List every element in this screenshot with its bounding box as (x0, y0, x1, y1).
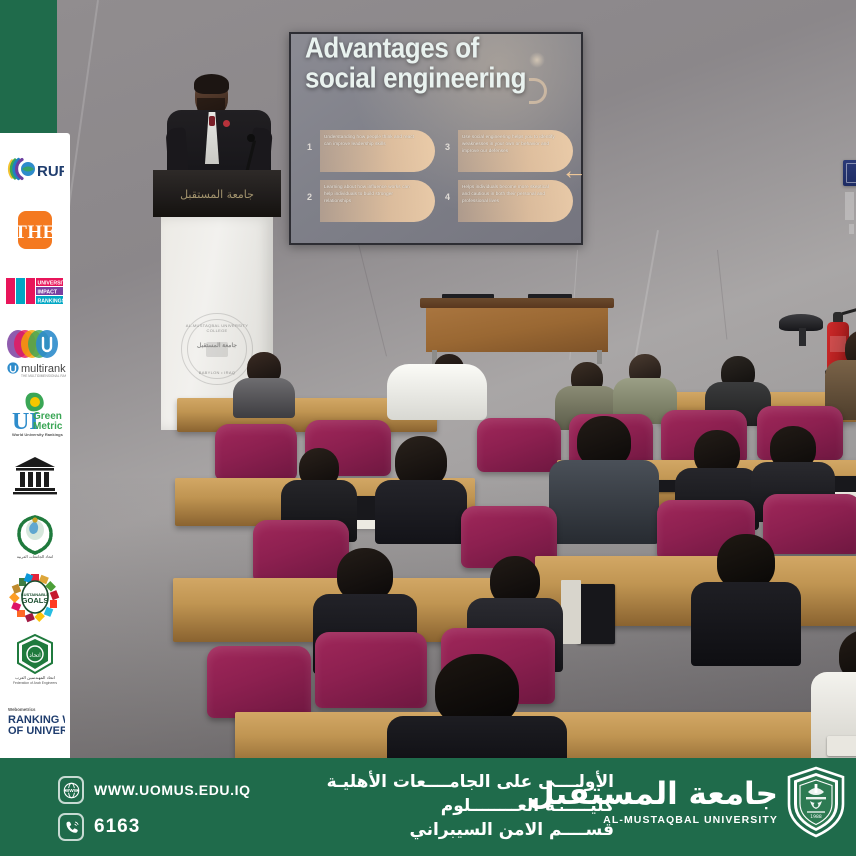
person-torso (233, 378, 295, 418)
audience-member (233, 352, 295, 414)
presenter-lapel-pin (223, 120, 230, 127)
sign-border (846, 163, 856, 183)
university-brand-lockup: جامعة المستقبل AL-MUSTAQBAL UNIVERSITY 1… (528, 766, 846, 838)
svg-text:اتحاد: اتحاد (29, 652, 41, 659)
svg-text:اتحاد الجامعات العربية: اتحاد الجامعات العربية (17, 554, 53, 559)
bullet-pill: Understanding how people think and react… (320, 130, 435, 172)
event-photo: Advantages of social engineering 1 Under… (57, 0, 856, 766)
audience-member (387, 654, 567, 766)
u-multirank-logo-icon: multirank THE MULTIDIMENSIONAL RANKING (4, 327, 66, 379)
presenter-hair (194, 74, 229, 94)
svg-text:RUR: RUR (37, 163, 64, 180)
ui-greenmetric-logo-icon: UI Green Metric World University Ranking… (6, 389, 64, 439)
phone-row[interactable]: 6163 (58, 813, 251, 841)
sidebar-logo-arab-universities: اتحاد الجامعات العربية (4, 507, 66, 566)
lecture-hall-scene: Advantages of social engineering 1 Under… (57, 0, 856, 766)
rur-logo-icon: RUR (6, 151, 64, 187)
desk-front-panel (426, 308, 608, 352)
audience-member (825, 330, 856, 416)
bullet-text: Use social engineering helps you to iden… (462, 133, 557, 154)
svg-text:OF UNIVERSITIES: OF UNIVERSITIES (8, 725, 65, 737)
sidebar-logo-ui-greenmetric: UI Green Metric World University Ranking… (4, 384, 66, 443)
svg-text:THE MULTIDIMENSIONAL RANKING: THE MULTIDIMENSIONAL RANKING (21, 374, 66, 378)
seal-center-text: جامعة المستقبل (182, 342, 252, 349)
audience-member (387, 348, 487, 418)
presenter-left-arm (165, 127, 188, 174)
auditorium-seat (207, 646, 311, 718)
brand-text: جامعة المستقبل AL-MUSTAQBAL UNIVERSITY (528, 779, 778, 826)
bullet-number: 1 (307, 130, 315, 152)
sidebar-logo-the-impact-rankings: UNIVERSITY IMPACT RANKINGS (4, 262, 66, 321)
contact-block: WWW WWW.UOMUS.EDU.IQ 6163 (58, 776, 251, 841)
webometrics-logo-icon: Webometrics RANKING WEB OF UNIVERSITIES (5, 703, 65, 737)
desk-top (420, 298, 614, 308)
svg-text:1988: 1988 (810, 814, 822, 820)
notebook-sheet (561, 580, 581, 644)
bullet-pill: Use social engineering helps you to iden… (458, 130, 573, 172)
svg-text:Metric: Metric (33, 421, 63, 432)
bullet-pill: Helps individuals become more skeptical … (458, 180, 573, 222)
sdg-goals-icon: SUSTAINABLE GOALS (9, 573, 61, 623)
phone-number[interactable]: 6163 (94, 816, 140, 838)
wall-sign-blue: تحذير (843, 160, 856, 186)
website-url[interactable]: WWW.UOMUS.EDU.IQ (94, 782, 251, 798)
slide-bullet: 2 Learning about how influence works can… (307, 180, 435, 224)
sidebar-logo-u-multirank: multirank THE MULTIDIMENSIONAL RANKING (4, 323, 66, 382)
slide-bullet: 1 Understanding how people think and rea… (307, 130, 435, 174)
projection-screen: Advantages of social engineering 1 Under… (289, 32, 583, 245)
svg-text:THE: THE (14, 222, 56, 243)
bullet-pill: Learning about how influence works can h… (320, 180, 435, 222)
extinguisher-hose (841, 308, 856, 316)
the-impact-rankings-logo-icon: UNIVERSITY IMPACT RANKINGS (5, 274, 65, 308)
audience-member (613, 354, 677, 420)
phone-device (827, 736, 856, 756)
seal-top-text: AL-MUSTAQBAL UNIVERSITY COLLEGE (182, 323, 252, 333)
sidebar-logo-the: THE (4, 200, 66, 259)
bullet-text: Helps individuals become more skeptical … (462, 183, 557, 204)
slide-bullet-grid: 1 Understanding how people think and rea… (307, 130, 573, 224)
person-torso (375, 480, 467, 544)
left-arrow-icon: ← (561, 157, 587, 183)
person-torso (549, 460, 659, 544)
the-logo-icon: THE (12, 209, 58, 251)
poster-footer: WWW WWW.UOMUS.EDU.IQ 6163 الأولــــى على… (0, 758, 856, 856)
svg-text:GOALS: GOALS (22, 596, 49, 605)
presenter-tie (209, 116, 215, 126)
audience-member (375, 436, 467, 536)
classical-building-icon (11, 454, 59, 496)
presenter (161, 76, 273, 176)
svg-text:Federation of Arab Engineers: Federation of Arab Engineers (13, 681, 57, 685)
bullet-number: 3 (445, 130, 453, 152)
bullet-number: 2 (307, 180, 315, 202)
svg-text:IMPACT: IMPACT (38, 290, 58, 296)
slide-bullet: 3 Use social engineering helps you to id… (445, 130, 573, 174)
poster-root: Advantages of social engineering 1 Under… (0, 0, 856, 856)
wall-text-strip (845, 192, 856, 220)
podium-nameplate: جامعة المستقبل (159, 184, 275, 204)
lens-flare (529, 52, 545, 68)
association-arab-universities-icon: اتحاد الجامعات العربية (8, 511, 62, 561)
sidebar-logo-rur: RUR (4, 139, 66, 198)
svg-text:WWW: WWW (64, 788, 78, 794)
accreditation-logo-sidebar: RUR THE UNIVERSITY IMPACT RANKINGS (0, 133, 70, 758)
phone-device (577, 584, 615, 644)
university-shield-emblem: 1988 (786, 766, 846, 838)
svg-text:World University Rankings: World University Rankings (12, 432, 64, 437)
audience-member (691, 534, 801, 660)
sidebar-logo-ministry-building (4, 445, 66, 504)
sidebar-logo-sdg: SUSTAINABLE GOALS (4, 568, 66, 627)
globe-www-icon: WWW (58, 776, 84, 804)
bullet-text: Learning about how influence works can h… (324, 183, 419, 204)
svg-text:Webometrics: Webometrics (8, 707, 36, 712)
wall-text-strip (849, 224, 856, 234)
audience-member (549, 416, 659, 536)
svg-text:UNIVERSITY: UNIVERSITY (38, 281, 66, 287)
bullet-number: 4 (445, 180, 453, 202)
person-torso (691, 582, 801, 666)
sidebar-logo-webometrics: Webometrics RANKING WEB OF UNIVERSITIES (4, 691, 66, 750)
microphone-head (247, 134, 255, 142)
svg-text:RANKINGS: RANKINGS (38, 299, 66, 305)
podium-nameplate-text: جامعة المستقبل (180, 188, 254, 201)
svg-text:اتحاد المهندسين العرب: اتحاد المهندسين العرب (15, 675, 55, 680)
slide-bullet: 4 Helps individuals become more skeptica… (445, 180, 573, 224)
phone-icon (58, 813, 84, 841)
brand-name-english: AL-MUSTAQBAL UNIVERSITY (528, 814, 778, 826)
website-row[interactable]: WWW WWW.UOMUS.EDU.IQ (58, 776, 251, 804)
sidebar-logo-arab-engineers: اتحاد اتحاد المهندسين العرب Federation o… (4, 629, 66, 688)
brand-name-arabic: جامعة المستقبل (528, 779, 778, 810)
bullet-text: Understanding how people think and react… (324, 133, 419, 147)
person-torso (387, 364, 487, 420)
podium-header: جامعة المستقبل (153, 170, 281, 217)
fountain-stem (799, 328, 806, 346)
federation-arab-engineers-icon: اتحاد اتحاد المهندسين العرب Federation o… (8, 633, 62, 685)
